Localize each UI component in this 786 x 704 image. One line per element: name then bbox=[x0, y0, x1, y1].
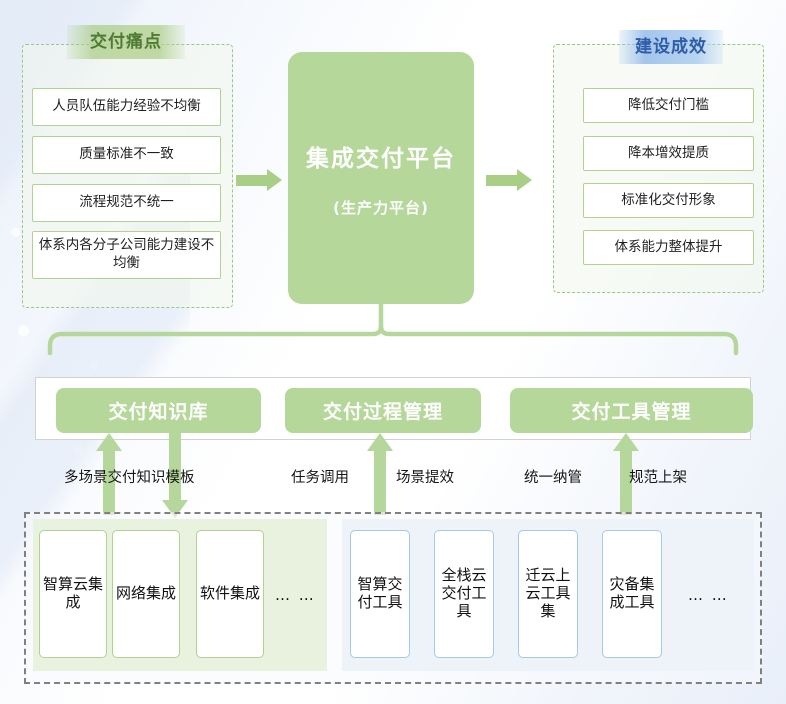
central-platform-box[interactable]: 集成交付平台 (生产力平台) bbox=[288, 52, 474, 304]
arrow-head bbox=[96, 433, 122, 451]
outcome-item[interactable]: 降本增效提质 bbox=[583, 136, 754, 171]
flow-label-scenario-efficiency: 场景提效 bbox=[396, 471, 454, 486]
arrow-platform-to-outcome bbox=[486, 169, 533, 192]
arrow-head bbox=[613, 433, 639, 451]
knowledge-asset-item[interactable]: 智算云集成 bbox=[39, 530, 107, 658]
pain-point-item[interactable]: 质量标准不一致 bbox=[32, 136, 221, 174]
arrow-head bbox=[367, 433, 393, 451]
flow-label-knowledge-template: 多场景交付知识模板 bbox=[64, 471, 195, 486]
flow-label-unified-management: 统一纳管 bbox=[524, 471, 582, 486]
arrow-head bbox=[267, 169, 282, 191]
flow-label-standard-publish: 规范上架 bbox=[629, 471, 687, 486]
diagram-canvas: 交付痛点 人员队伍能力经验不均衡 质量标准不一致 流程规范不统一 体系内各分子公… bbox=[0, 0, 786, 704]
capability-process-management[interactable]: 交付过程管理 bbox=[285, 388, 481, 433]
pain-point-item[interactable]: 体系内各分子公司能力建设不均衡 bbox=[32, 231, 221, 279]
flow-arrow-up-process bbox=[367, 433, 393, 515]
capability-tool-management[interactable]: 交付工具管理 bbox=[510, 388, 753, 433]
outcome-item[interactable]: 体系能力整体提升 bbox=[583, 230, 754, 265]
arrow-pain-to-platform bbox=[236, 169, 283, 192]
knowledge-asset-item[interactable]: 网络集成 bbox=[112, 530, 180, 658]
flow-label-task-invoke: 任务调用 bbox=[291, 471, 349, 486]
tool-asset-item[interactable]: 智算交付工具 bbox=[350, 530, 410, 658]
tool-asset-item[interactable]: 灾备集成工具 bbox=[602, 530, 662, 658]
arrow-shaft bbox=[374, 450, 386, 515]
outcome-item[interactable]: 标准化交付形象 bbox=[583, 183, 754, 218]
arrow-shaft bbox=[169, 433, 181, 501]
pain-point-item[interactable]: 人员队伍能力经验不均衡 bbox=[32, 88, 221, 126]
arrow-head bbox=[517, 169, 532, 191]
arrow-shaft bbox=[486, 175, 518, 186]
tool-assets-ellipsis: … … bbox=[688, 586, 729, 604]
platform-title: 集成交付平台 bbox=[306, 139, 456, 173]
pain-point-item[interactable]: 流程规范不统一 bbox=[32, 184, 221, 222]
pain-points-header: 交付痛点 bbox=[67, 25, 185, 59]
knowledge-asset-item[interactable]: 软件集成 bbox=[196, 530, 264, 658]
tool-asset-item[interactable]: 迁云上云工具集 bbox=[518, 530, 578, 658]
knowledge-assets-ellipsis: … … bbox=[275, 586, 316, 604]
platform-subtitle: (生产力平台) bbox=[333, 197, 429, 218]
outcomes-header: 建设成效 bbox=[619, 30, 723, 64]
capability-knowledge-base[interactable]: 交付知识库 bbox=[56, 388, 261, 433]
outcome-item[interactable]: 降低交付门槛 bbox=[583, 88, 754, 123]
tool-asset-item[interactable]: 全栈云交付工具 bbox=[434, 530, 494, 658]
bracket-connector bbox=[24, 300, 762, 374]
arrow-shaft bbox=[236, 175, 268, 186]
